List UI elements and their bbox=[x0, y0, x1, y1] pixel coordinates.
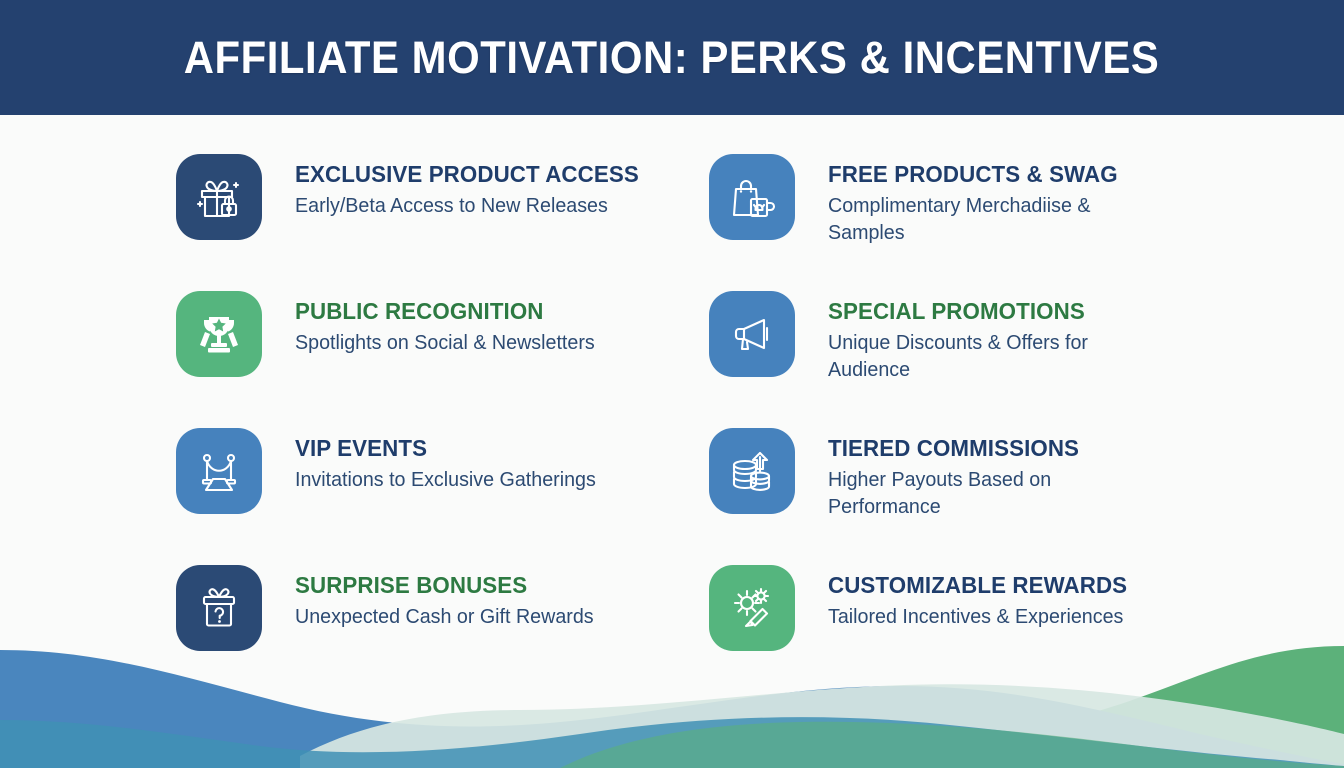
gears-brush-icon bbox=[726, 582, 778, 634]
card-title: Public Recognition bbox=[295, 299, 592, 325]
perks-grid: Exclusive Product Access Early/Beta Acce… bbox=[176, 152, 1186, 669]
card-description: Spotlights on Social & Newsletters bbox=[295, 329, 595, 356]
card-text: Tiered Commissions Higher Payouts Based … bbox=[828, 426, 1158, 520]
gift-lock-icon bbox=[193, 171, 245, 223]
card-text: Free Products & Swag Complimentary Merch… bbox=[828, 152, 1158, 246]
gift-question-icon-tile bbox=[176, 565, 262, 651]
wave-pale-layer bbox=[300, 684, 1344, 768]
perk-card-vip-events[interactable]: VIP Events Invitations to Exclusive Gath… bbox=[176, 426, 653, 532]
card-description: Unexpected Cash or Gift Rewards bbox=[295, 603, 594, 630]
coins-arrow-up-icon-tile bbox=[709, 428, 795, 514]
wave-seafoam-layer bbox=[560, 722, 1344, 768]
card-title: Free Products & Swag bbox=[828, 162, 1142, 188]
perk-card-customizable-rewards[interactable]: Customizable Rewards Tailored Incentives… bbox=[709, 563, 1186, 669]
infographic-canvas: Affiliate Motivation: Perks & Incentives bbox=[0, 0, 1344, 768]
velvet-rope-icon-tile bbox=[176, 428, 262, 514]
card-title: Customizable Rewards bbox=[828, 573, 1127, 599]
page-title: Affiliate Motivation: Perks & Incentives bbox=[184, 32, 1160, 84]
perk-card-special-promotions[interactable]: Special Promotions Unique Discounts & Of… bbox=[709, 289, 1186, 395]
card-text: Special Promotions Unique Discounts & Of… bbox=[828, 289, 1158, 383]
card-text: Customizable Rewards Tailored Incentives… bbox=[828, 563, 1143, 630]
coins-arrow-up-icon bbox=[726, 445, 778, 497]
card-description: Complimentary Merchadiise & Samples bbox=[828, 192, 1145, 246]
perk-card-free-products-swag[interactable]: Free Products & Swag Complimentary Merch… bbox=[709, 152, 1186, 258]
perk-card-public-recognition[interactable]: Public Recognition Spotlights on Social … bbox=[176, 289, 653, 395]
card-description: Invitations to Exclusive Gatherings bbox=[295, 466, 596, 493]
header-bar: Affiliate Motivation: Perks & Incentives bbox=[0, 0, 1344, 115]
card-title: VIP Events bbox=[295, 436, 593, 462]
card-text: Exclusive Product Access Early/Beta Acce… bbox=[295, 152, 657, 219]
card-description: Early/Beta Access to New Releases bbox=[295, 192, 612, 219]
card-text: Public Recognition Spotlights on Social … bbox=[295, 289, 607, 356]
shopping-bag-mug-icon-tile bbox=[709, 154, 795, 240]
shopping-bag-mug-icon bbox=[726, 171, 778, 223]
card-description: Higher Payouts Based on Performance bbox=[828, 466, 1145, 520]
perk-card-exclusive-product-access[interactable]: Exclusive Product Access Early/Beta Acce… bbox=[176, 152, 653, 258]
card-description: Unique Discounts & Offers for Audience bbox=[828, 329, 1145, 383]
trophy-icon bbox=[193, 308, 245, 360]
trophy-icon-tile bbox=[176, 291, 262, 377]
card-text: VIP Events Invitations to Exclusive Gath… bbox=[295, 426, 608, 493]
card-title: Surprise Bonuses bbox=[295, 573, 591, 599]
gift-lock-icon-tile bbox=[176, 154, 262, 240]
card-title: Special Promotions bbox=[828, 299, 1142, 325]
velvet-rope-icon bbox=[193, 445, 245, 497]
card-description: Tailored Incentives & Experiences bbox=[828, 603, 1130, 630]
card-text: Surprise Bonuses Unexpected Cash or Gift… bbox=[295, 563, 606, 630]
perk-card-tiered-commissions[interactable]: Tiered Commissions Higher Payouts Based … bbox=[709, 426, 1186, 532]
card-title: Exclusive Product Access bbox=[295, 162, 639, 188]
perk-card-surprise-bonuses[interactable]: Surprise Bonuses Unexpected Cash or Gift… bbox=[176, 563, 653, 669]
wave-teal-layer bbox=[0, 717, 1344, 768]
gift-question-icon bbox=[193, 582, 245, 634]
megaphone-icon-tile bbox=[709, 291, 795, 377]
card-title: Tiered Commissions bbox=[828, 436, 1142, 462]
megaphone-icon bbox=[726, 308, 778, 360]
gears-brush-icon-tile bbox=[709, 565, 795, 651]
